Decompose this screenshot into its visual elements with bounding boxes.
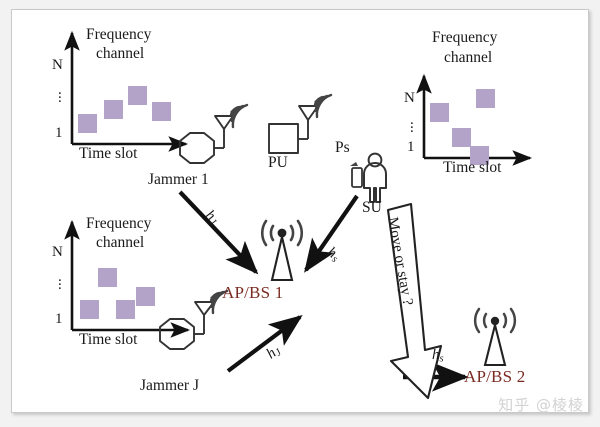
jammer-1-signal-icon xyxy=(230,105,247,127)
chart-su-ytick-dots: ... xyxy=(410,118,414,130)
chart-su-ylabel-line2: channel xyxy=(444,50,492,66)
chart-jammer1-ytick-bottom: 1 xyxy=(55,126,63,142)
chart-jammerj-ytick-dots: ... xyxy=(58,275,62,287)
ap-bs-1-tower-icon xyxy=(262,221,302,280)
jammer-j-label: Jammer J xyxy=(140,378,199,394)
ps-label: Ps xyxy=(335,140,350,156)
link-jammerj-to-ap1 xyxy=(228,317,300,371)
chart-jammer1-xlabel: Time slot xyxy=(79,146,137,162)
chart-jammer1-cells xyxy=(78,86,171,133)
chart-su-ytick-top: N xyxy=(404,91,415,107)
pu-signal-icon xyxy=(314,95,331,117)
diagram-vector-layer xyxy=(0,0,600,427)
su-label: SU xyxy=(362,200,382,216)
su-phone-icon xyxy=(350,162,362,187)
chart-jammerj-ylabel-line2: channel xyxy=(96,235,144,251)
ap-bs-1-label: AP/BS 1 xyxy=(222,284,283,302)
chart-jammer1-ylabel-line2: channel xyxy=(96,46,144,62)
chart-jammer1-ytick-dots: ... xyxy=(58,88,62,100)
figure-canvas: Frequency channel N ... 1 Time slot Freq… xyxy=(0,0,600,427)
watermark: 知乎 @棱棱 xyxy=(498,394,584,415)
chart-jammerj-ytick-top: N xyxy=(52,245,63,261)
ap-bs-2-tower-icon xyxy=(475,309,515,365)
chart-su-xlabel: Time slot xyxy=(443,160,501,176)
ap-bs-2-label: AP/BS 2 xyxy=(464,368,525,386)
link-jammer1-to-ap1 xyxy=(180,192,256,272)
pu-icon xyxy=(269,106,318,153)
chart-jammer1-ylabel-line1: Frequency xyxy=(86,27,151,43)
su-person-icon xyxy=(364,154,386,202)
chart-su-ylabel-line1: Frequency xyxy=(432,30,497,46)
chart-jammerj-xlabel: Time slot xyxy=(79,332,137,348)
chart-jammerj-ylabel-line1: Frequency xyxy=(86,216,151,232)
link-label-h-s-lower: hs xyxy=(432,348,444,364)
jammer-j-icon xyxy=(160,302,214,349)
jammer-1-icon xyxy=(180,116,233,163)
chart-jammerj-cells xyxy=(80,268,155,319)
chart-jammer1-ytick-top: N xyxy=(52,58,63,74)
jammer-1-label: Jammer 1 xyxy=(148,172,209,188)
chart-su-ytick-bottom: 1 xyxy=(407,140,415,156)
chart-jammerj-ytick-bottom: 1 xyxy=(55,312,63,328)
chart-su-cells xyxy=(430,89,495,165)
pu-label: PU xyxy=(268,155,288,171)
